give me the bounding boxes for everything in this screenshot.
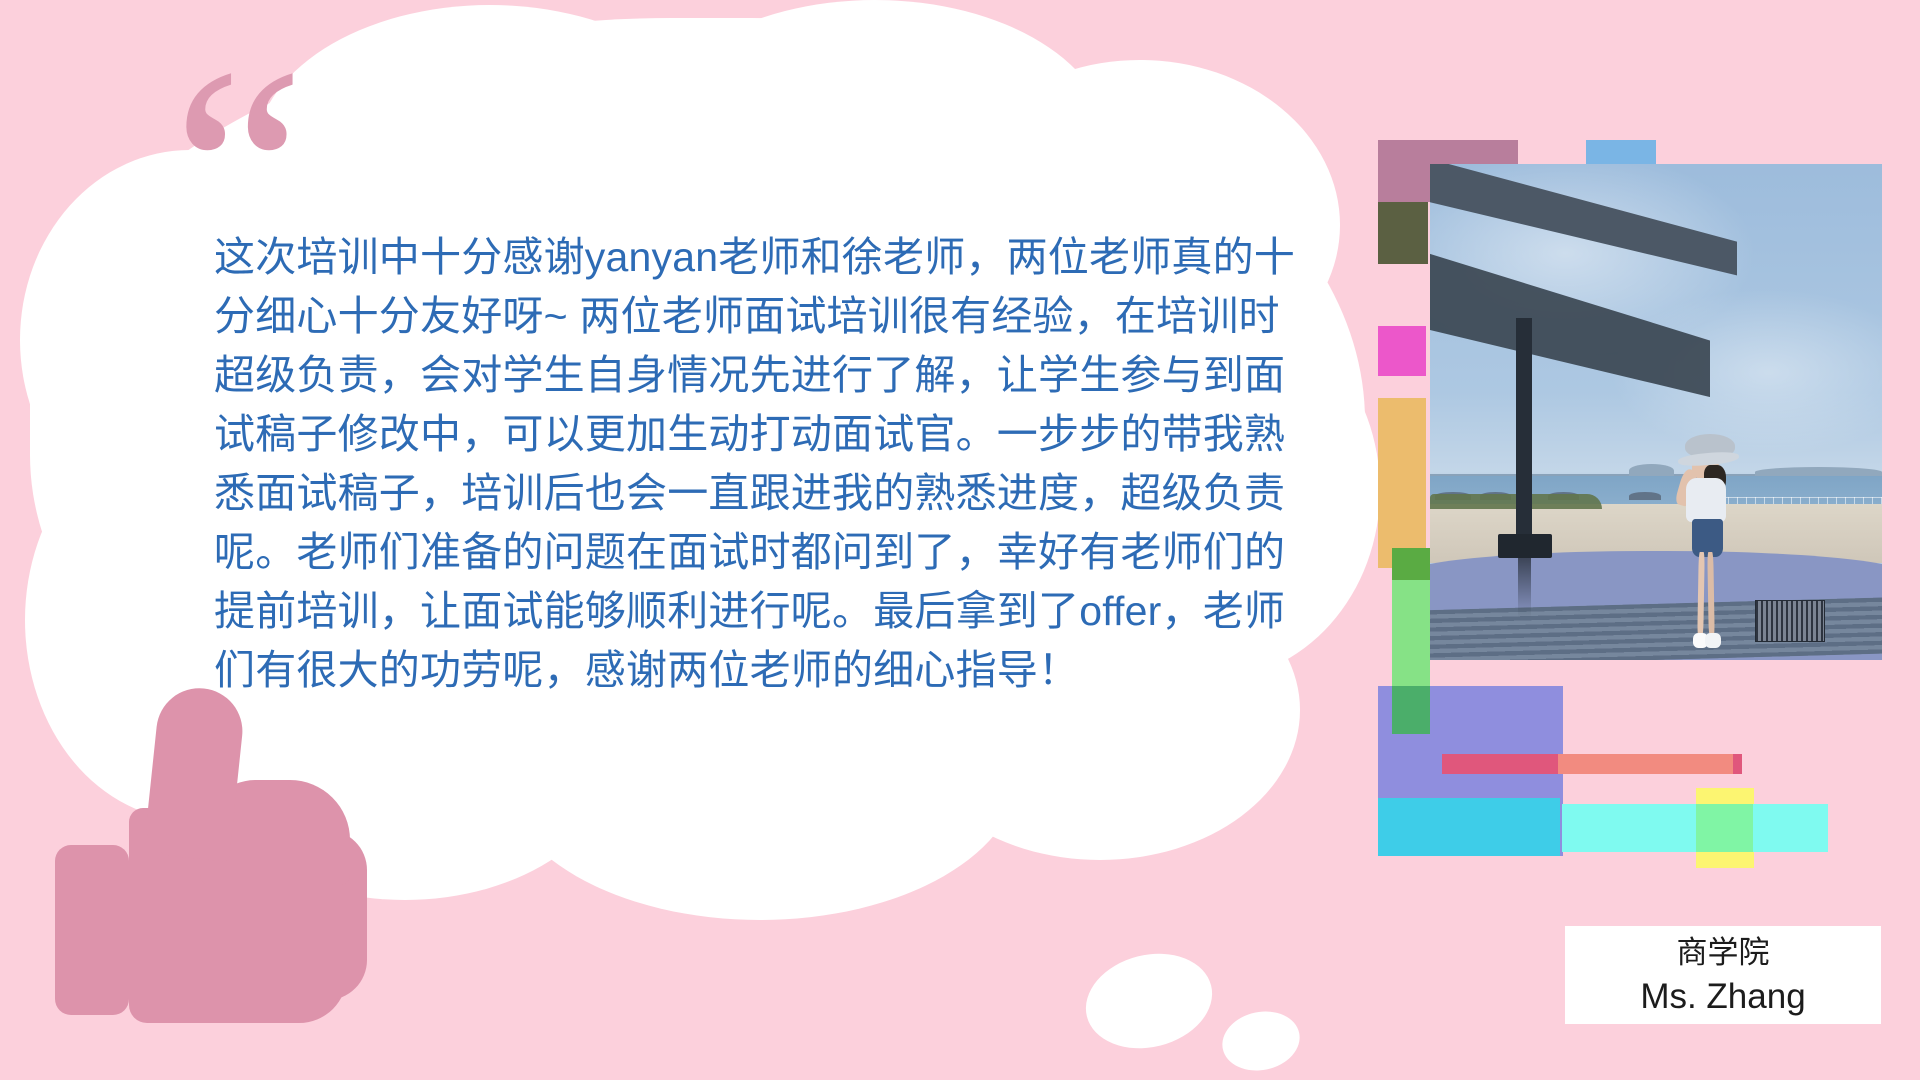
photo-crate — [1755, 600, 1825, 642]
testimonial-photo — [1430, 164, 1882, 660]
color-swatch-olive — [1378, 202, 1428, 264]
photo-column-base — [1498, 534, 1552, 559]
photo-person-top — [1686, 478, 1725, 522]
photo-person-shoe — [1705, 633, 1720, 648]
thumbs-up-icon — [24, 640, 424, 1080]
photo-person — [1676, 434, 1739, 652]
attribution-name: Ms. Zhang — [1640, 975, 1805, 1019]
color-swatch-spring-green — [1696, 804, 1754, 852]
testimonial-quote-text: 这次培训中十分感谢yanyan老师和徐老师，两位老师真的十分细心十分友好呀~ 两… — [214, 228, 1314, 700]
photo-reflection — [1518, 558, 1532, 618]
photo-column — [1516, 318, 1532, 546]
color-swatch-jade — [1392, 686, 1430, 734]
photo-person-leg — [1707, 552, 1714, 637]
photo-beach-umbrella — [1629, 492, 1661, 500]
thumbs-up-thumb — [143, 684, 246, 862]
photo-person-shorts — [1692, 519, 1724, 556]
color-swatch-aqua — [1753, 804, 1828, 852]
thumbs-up-cuff — [55, 845, 129, 1015]
photo-person-leg — [1697, 552, 1704, 637]
testimonial-slide: “ 这次培训中十分感谢yanyan老师和徐老师，两位老师真的十分细心十分友好呀~… — [0, 0, 1920, 1080]
color-swatch-mint-green — [1392, 580, 1430, 690]
thought-bubble-tail-large — [1076, 941, 1222, 1061]
photo-collage — [1378, 140, 1883, 920]
color-swatch-sand — [1378, 398, 1426, 568]
photo-island — [1629, 464, 1674, 477]
color-swatch-magenta — [1378, 326, 1426, 376]
attribution-department: 商学院 — [1677, 931, 1770, 975]
thought-bubble-tail-small — [1217, 1005, 1305, 1078]
attribution-card: 商学院 Ms. Zhang — [1565, 926, 1881, 1024]
color-swatch-salmon — [1558, 754, 1733, 774]
color-swatch-cyan — [1378, 798, 1560, 856]
photo-mountain — [1755, 467, 1882, 477]
